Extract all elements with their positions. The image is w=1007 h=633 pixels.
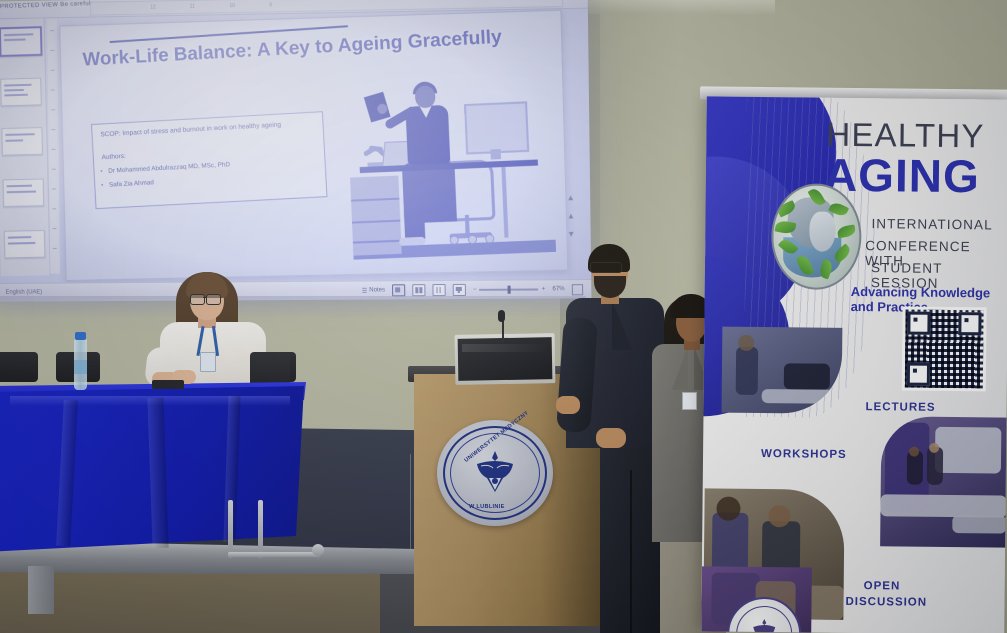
banner-photo-lectures (721, 327, 842, 414)
person-working-at-desk-illustration (346, 72, 556, 260)
projection-screen: PROTECTED VIEW Be careful 12 11 10 9 (0, 0, 591, 302)
language-indicator[interactable]: English (UAE) (5, 290, 42, 296)
banner-subheading-line1: INTERNATIONAL (871, 216, 992, 232)
slide-thumbnail-1[interactable] (0, 26, 43, 57)
conference-qr-code[interactable] (902, 306, 987, 391)
banner-heading-aging: AGING (824, 148, 980, 204)
medical-university-of-lublin-seal: UNIWERSYTET MEDYCZNY W LUBLINIE (437, 420, 553, 526)
slide-thumbnail-4[interactable] (3, 178, 45, 207)
previous-slide-icon[interactable]: ▲ (567, 211, 575, 220)
presenter-eyeglasses (590, 262, 622, 273)
water-bottle-label (74, 360, 87, 374)
slide-text-box[interactable]: SCOP: Impact of stress and burnout in wo… (91, 111, 327, 209)
slide-canvas[interactable]: Work-Life Balance: A Key to Ageing Grace… (59, 10, 568, 281)
ruler-tick: 9 (269, 2, 272, 8)
slide-thumbnail-3[interactable] (1, 127, 43, 156)
name-badge (200, 352, 216, 372)
ruler-tick: 12 (150, 4, 156, 10)
zoom-percent-label[interactable]: 67% (552, 286, 564, 292)
presenter-hand (556, 396, 580, 414)
notes-button[interactable]: ☰ Notes (362, 287, 385, 294)
slide-thumbnail-5[interactable] (4, 230, 46, 259)
zoom-slider[interactable]: − + (473, 286, 545, 292)
eyeglasses-right-lens (206, 294, 221, 305)
gooseneck-microphone (498, 310, 505, 322)
author-item: Dr Mohammed Abdulrazzaq MD, MSc, PhD (108, 161, 230, 174)
co-presenter-name-badge (682, 392, 697, 410)
notes-icon: ☰ (362, 287, 368, 294)
reading-view-button[interactable] (432, 284, 445, 296)
presenter-trouser-seam (630, 470, 632, 633)
ruler-tick: 11 (190, 4, 195, 10)
monitor-glare (462, 344, 548, 352)
chair (0, 352, 38, 382)
notes-label: Notes (369, 287, 385, 293)
authors-label: Authors: (101, 153, 126, 161)
table-frame (228, 500, 324, 560)
slide-thumbnail-2[interactable] (0, 78, 42, 107)
water-bottle-cap (75, 332, 86, 340)
zoom-in-button[interactable]: + (542, 286, 546, 292)
presenter-hand-on-podium (596, 428, 626, 448)
next-slide-icon[interactable]: ▼ (567, 230, 575, 239)
slide-subtitle: SCOP: Impact of stress and burnout in wo… (100, 121, 281, 138)
zoom-track[interactable] (480, 289, 539, 291)
phone-on-table (152, 380, 184, 389)
zoom-handle[interactable] (508, 285, 511, 293)
seal-text-bottom: W LUBLINIE (469, 504, 505, 510)
normal-view-button[interactable] (392, 284, 405, 296)
slide-pane-scrollbar[interactable]: ▲ ▲ ▼ (564, 193, 579, 274)
banner-label-discussion: DISCUSSION (845, 596, 927, 609)
banner-label-lectures: LECTURES (866, 401, 936, 414)
stage-leg (28, 566, 54, 614)
banner-photo-conference-hall (880, 416, 1007, 547)
eyeglasses-bridge (203, 297, 206, 298)
slide-thumbnail-panel[interactable] (0, 18, 51, 276)
author-item: Safa Zia Ahmad (109, 179, 154, 188)
slide-title: Work-Life Balance: A Key to Ageing Grace… (82, 26, 502, 72)
conference-room-photo: PROTECTED VIEW Be careful 12 11 10 9 (0, 0, 1007, 633)
conference-roll-up-banner: HEALTHY AGING INTERNATIONAL CONFERENCE W… (701, 96, 1007, 633)
fit-to-window-icon[interactable] (572, 284, 583, 295)
scroll-up-icon[interactable]: ▲ (567, 193, 575, 202)
slide-sorter-view-button[interactable] (412, 284, 425, 296)
slide-show-view-button[interactable] (453, 284, 466, 296)
banner-label-workshops: WORKSHOPS (761, 448, 847, 461)
ruler-tick: 10 (229, 3, 235, 9)
protected-view-banner: PROTECTED VIEW Be careful (0, 1, 91, 10)
vertical-ruler (47, 18, 60, 273)
zoom-out-button[interactable]: − (473, 287, 477, 293)
eyeglasses-left-lens (190, 294, 205, 305)
eagle-crest-icon (749, 617, 779, 633)
banner-label-open: OPEN (864, 580, 901, 592)
